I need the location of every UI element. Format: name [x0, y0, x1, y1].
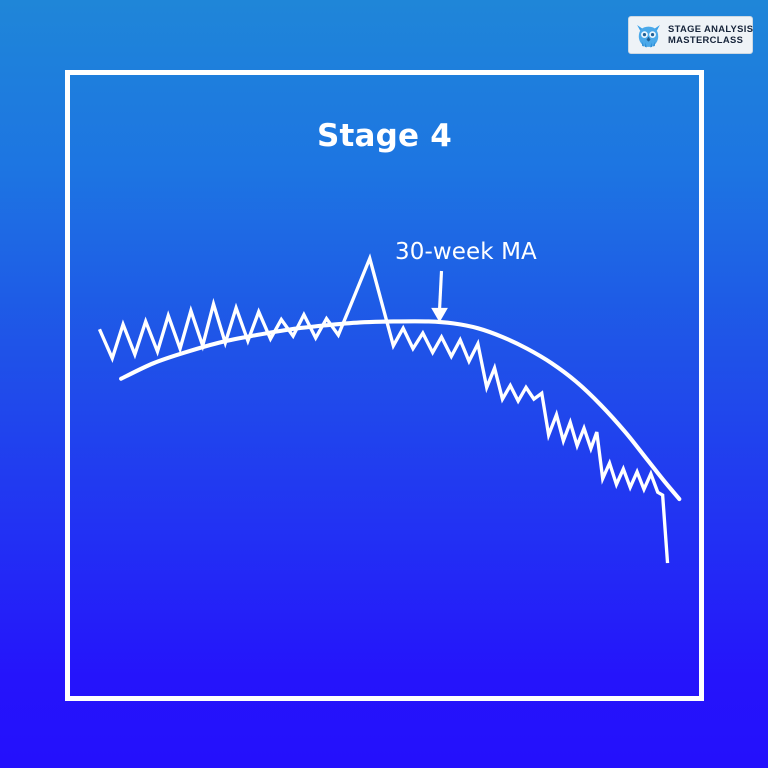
annotation-arrow: [431, 271, 448, 322]
brand-line-2: MASTERCLASS: [668, 35, 753, 46]
annotation-arrow-shaft: [440, 271, 442, 310]
price-chart-plot: [70, 75, 699, 696]
brand-wordmark: STAGE ANALYSIS MASTERCLASS: [668, 24, 753, 45]
ma-annotation-label: 30-week MA: [395, 239, 537, 265]
annotation-arrow-head: [431, 308, 448, 323]
chart-title: Stage 4: [70, 118, 699, 154]
owl-icon: [635, 22, 662, 49]
brand-logo[interactable]: STAGE ANALYSIS MASTERCLASS: [628, 16, 753, 54]
chart-frame: Stage 4 30-week MA: [65, 70, 704, 701]
price-series-line: [99, 258, 667, 563]
moving-average-line: [121, 321, 679, 499]
